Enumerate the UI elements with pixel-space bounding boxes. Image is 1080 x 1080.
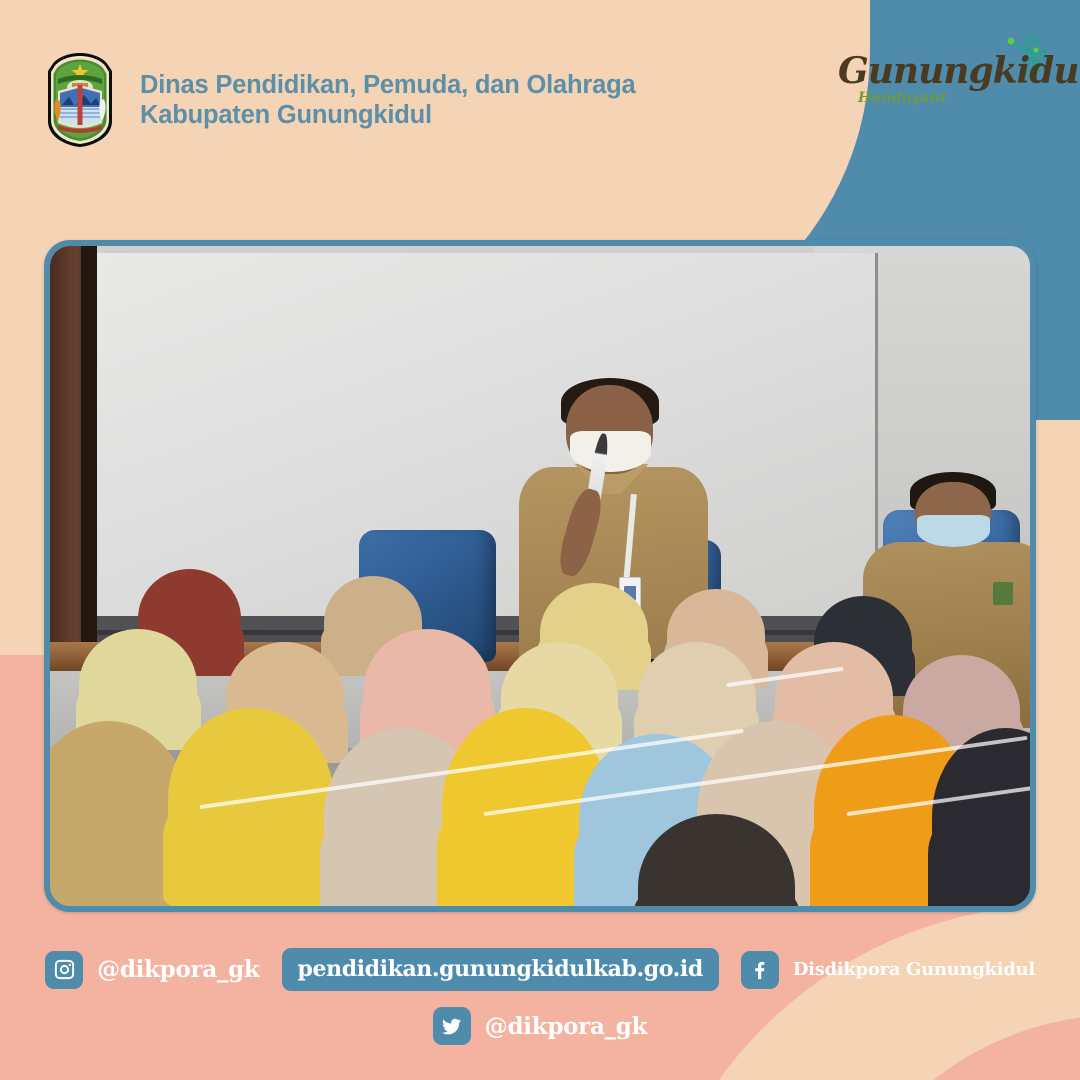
footer-row-twitter: @dikpora_gk: [0, 1007, 1080, 1045]
facebook-page-name[interactable]: Disdikpora Gunungkidul: [793, 959, 1035, 980]
photo-uniform-patch: [993, 582, 1013, 605]
twitter-handle[interactable]: @dikpora_gk: [485, 1013, 647, 1040]
photo-speaker-face-mask: [570, 431, 650, 472]
footer-row-primary: @dikpora_gk pendidikan.gunungkidulkab.go…: [0, 948, 1080, 991]
website-url-pill[interactable]: pendidikan.gunungkidulkab.go.id: [282, 948, 719, 991]
brand-tagline: Handayani: [858, 90, 947, 106]
gunungkidul-brand-logo: Gunungkidul Handayani: [830, 28, 1050, 128]
photo-door-edge: [81, 246, 97, 662]
poster-header: Dinas Pendidikan, Pemuda, dan Olahraga K…: [0, 0, 820, 200]
facebook-icon[interactable]: [741, 951, 779, 989]
gunungkidul-coat-of-arms-icon: [42, 51, 118, 149]
photo-seated-face-mask: [917, 515, 990, 548]
header-title-block: Dinas Pendidikan, Pemuda, dan Olahraga K…: [140, 70, 635, 130]
brand-name: Gunungkidul: [838, 50, 1080, 92]
page-title-line-1: Dinas Pendidikan, Pemuda, dan Olahraga: [140, 70, 635, 100]
footer-social-bar: @dikpora_gk pendidikan.gunungkidulkab.go…: [0, 940, 1080, 1080]
event-photo: [50, 246, 1030, 906]
social-media-poster: Dinas Pendidikan, Pemuda, dan Olahraga K…: [0, 0, 1080, 1080]
instagram-icon[interactable]: [45, 951, 83, 989]
instagram-handle[interactable]: @dikpora_gk: [97, 956, 259, 983]
twitter-icon[interactable]: [433, 1007, 471, 1045]
event-photo-card: [44, 240, 1036, 912]
page-title-line-2: Kabupaten Gunungkidul: [140, 100, 635, 130]
